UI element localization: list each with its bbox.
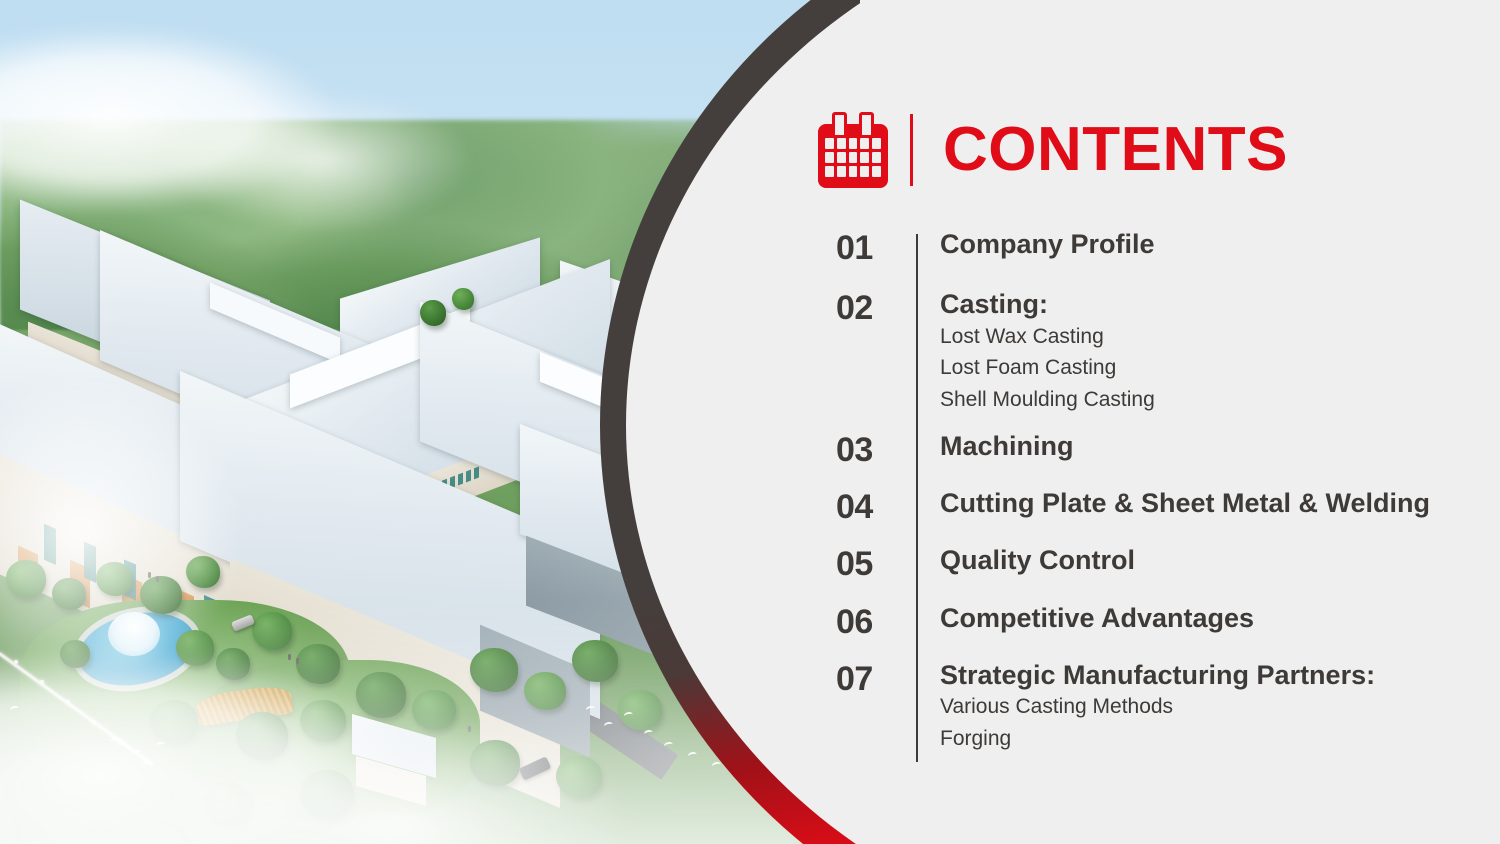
toc-label: Machining xyxy=(940,430,1500,462)
toc-item-06[interactable]: 06 Competitive Advantages xyxy=(818,602,1500,642)
toc-number: 01 xyxy=(818,228,916,268)
toc-number: 04 xyxy=(818,487,916,527)
toc-subitem: Forging xyxy=(940,723,1500,755)
toc-item-05[interactable]: 05 Quality Control xyxy=(818,544,1500,584)
toc-text: Quality Control xyxy=(916,544,1500,576)
toc-subitem: Various Casting Methods xyxy=(940,691,1500,723)
toc-number: 05 xyxy=(818,544,916,584)
calendar-ring-left xyxy=(832,112,847,138)
toc-subitem: Lost Wax Casting xyxy=(940,321,1500,353)
toc-subitem: Lost Foam Casting xyxy=(940,352,1500,384)
toc-label: Competitive Advantages xyxy=(940,602,1500,634)
toc-text: Casting: Lost Wax Casting Lost Foam Cast… xyxy=(916,288,1500,416)
panel-content: CONTENTS 01 Company Profile 02 Casting: … xyxy=(818,0,1500,844)
toc-text: Strategic Manufacturing Partners: Variou… xyxy=(916,659,1500,755)
tree xyxy=(420,300,446,326)
page-title: CONTENTS xyxy=(943,119,1288,181)
toc-number: 02 xyxy=(818,288,916,328)
toc-item-02[interactable]: 02 Casting: Lost Wax Casting Lost Foam C… xyxy=(818,288,1500,416)
toc-number: 03 xyxy=(818,430,916,470)
toc-text: Cutting Plate & Sheet Metal & Welding xyxy=(916,487,1500,519)
toc-label: Quality Control xyxy=(940,544,1500,576)
tree xyxy=(452,288,474,310)
calendar-ring-right xyxy=(859,112,874,138)
slide: CONTENTS 01 Company Profile 02 Casting: … xyxy=(0,0,1500,844)
toc-item-01[interactable]: 01 Company Profile xyxy=(818,228,1500,268)
calendar-grid xyxy=(825,138,881,177)
toc-number: 06 xyxy=(818,602,916,642)
table-of-contents: 01 Company Profile 02 Casting: Lost Wax … xyxy=(818,228,1500,755)
toc-label: Strategic Manufacturing Partners: xyxy=(940,659,1500,691)
toc-item-03[interactable]: 03 Machining xyxy=(818,430,1500,470)
toc-label: Cutting Plate & Sheet Metal & Welding xyxy=(940,487,1500,519)
header-divider xyxy=(910,114,913,186)
toc-label: Casting: xyxy=(940,288,1500,320)
toc-text: Machining xyxy=(916,430,1500,462)
toc-text: Competitive Advantages xyxy=(916,602,1500,634)
toc-item-07[interactable]: 07 Strategic Manufacturing Partners: Var… xyxy=(818,659,1500,755)
toc-text: Company Profile xyxy=(916,228,1500,260)
toc-subitem: Shell Moulding Casting xyxy=(940,384,1500,416)
calendar-icon xyxy=(818,112,888,188)
contents-header: CONTENTS xyxy=(818,112,1288,188)
toc-number: 07 xyxy=(818,659,916,699)
toc-label: Company Profile xyxy=(940,228,1500,260)
cloud-upper-left xyxy=(0,0,560,270)
toc-item-04[interactable]: 04 Cutting Plate & Sheet Metal & Welding xyxy=(818,487,1500,527)
